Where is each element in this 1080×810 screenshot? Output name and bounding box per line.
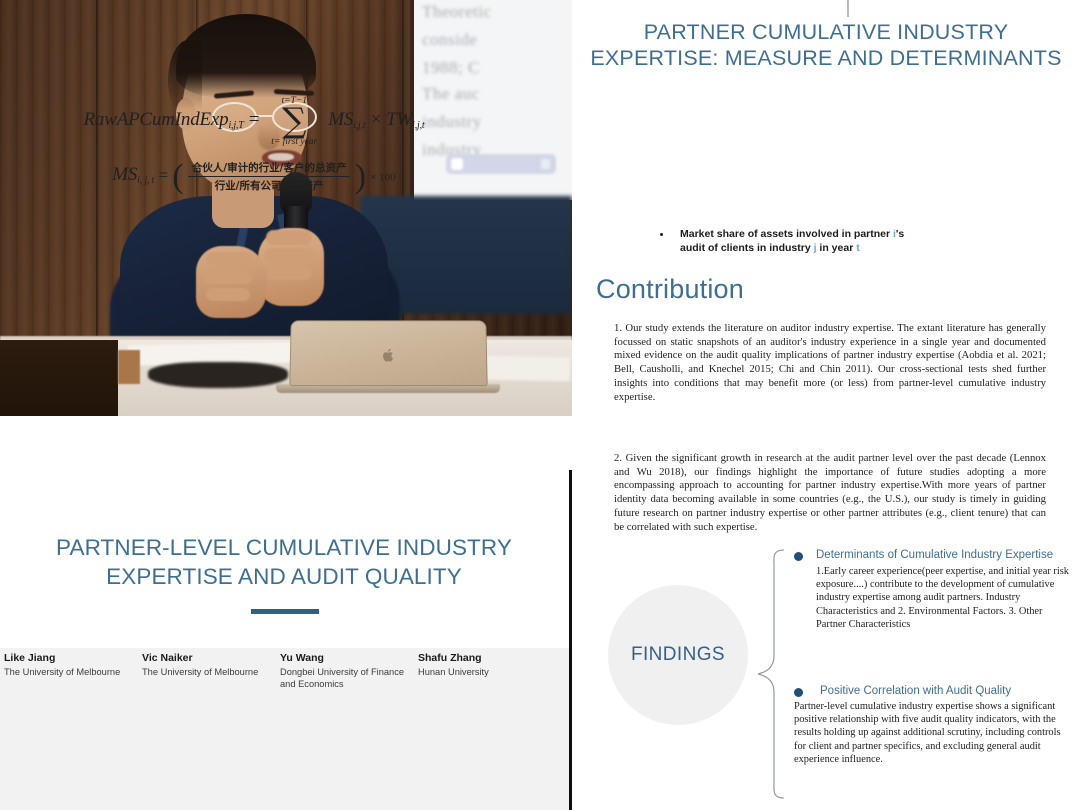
table-wood-panel: [0, 340, 118, 416]
paren-close: ): [355, 162, 366, 192]
title-underline-rule: [251, 609, 319, 614]
formula-market-share: MSi, j, t = ( 合伙人/审计的行业/客户的总资产 行业/所有公司的总…: [0, 160, 508, 193]
sum-lower-limit: t= first year: [271, 137, 317, 147]
paren-open: (: [172, 162, 183, 192]
presenter-hand-right: [258, 228, 324, 306]
curly-brace-icon: [754, 548, 790, 800]
bullet-circle-icon: [794, 552, 803, 561]
formula2-lhs: MSi, j, t: [112, 164, 154, 185]
findings-item-heading: Positive Correlation with Audit Quality: [820, 684, 1070, 698]
slide-measure-title: PARTNER CUMULATIVE INDUSTRY EXPERTISE: M…: [590, 19, 1062, 71]
slide-title-page: PARTNER-LEVEL CUMULATIVE INDUSTRY EXPERT…: [0, 416, 569, 810]
slide-top-tick: [847, 0, 849, 17]
slide-findings: FINDINGS Determinants of Cumulative Indu…: [572, 540, 1080, 810]
dark-object-on-table: [148, 362, 288, 388]
contribution-paragraph-2: 2. Given the significant growth in resea…: [614, 452, 1046, 534]
formula-term-ms: MSi,j,t: [328, 109, 365, 130]
fraction-denominator: 行业/所有公司的总资产: [188, 177, 351, 193]
findings-item-heading: Determinants of Cumulative Industry Expe…: [816, 548, 1070, 562]
findings-label: FINDINGS: [631, 644, 725, 666]
fraction-numerator: 合伙人/审计的行业/客户的总资产: [188, 160, 351, 177]
measure-bullet-text: Market share of assets involved in partn…: [680, 228, 910, 255]
summation-operator: t=T−1 ∑ t= first year: [271, 96, 317, 147]
bullet-circle-icon: [794, 688, 803, 697]
paper-title: PARTNER-LEVEL CUMULATIVE INDUSTRY EXPERT…: [8, 533, 560, 591]
projection-text-block-1: Theoreticconside1988; C: [422, 0, 572, 82]
bullet-dot-icon: [660, 233, 663, 236]
formula2-multiplier: × 100: [370, 171, 395, 183]
findings-item-body: 1.Early career experience(peer expertise…: [816, 565, 1070, 631]
contribution-heading: Contribution: [596, 274, 744, 305]
presenter-hand-left: [196, 246, 266, 318]
formula-times: ×: [370, 109, 383, 130]
macbook-laptop: [289, 320, 487, 386]
author-entry: Like Jiang The University of Melbourne: [4, 652, 142, 690]
findings-circle: FINDINGS: [608, 585, 748, 725]
presentation-composite: Theoreticconside1988; C The aucindustryi…: [0, 0, 1080, 810]
author-affiliation: Hunan University: [418, 666, 546, 678]
measure-bullet-note: Market share of assets involved in partn…: [660, 228, 910, 255]
author-entry: Vic Naiker The University of Melbourne: [142, 652, 280, 690]
market-share-fraction: 合伙人/审计的行业/客户的总资产 行业/所有公司的总资产: [188, 160, 351, 193]
formula-raw-apcumindexp: RawAPCumIndExpi,j,T = t=T−1 ∑ t= first y…: [0, 96, 508, 147]
presenter-video-panel[interactable]: Theoreticconside1988; C The aucindustryi…: [0, 0, 572, 416]
author-name: Yu Wang: [280, 652, 408, 665]
findings-item-body: Partner-level cumulative industry expert…: [794, 700, 1070, 766]
panel-divider-top: [569, 416, 572, 470]
findings-item: Determinants of Cumulative Industry Expe…: [794, 548, 1070, 631]
formula2-equals: =: [158, 165, 168, 184]
contribution-paragraph-1: 1. Our study extends the literature on a…: [614, 322, 1046, 404]
author-entry: Yu Wang Dongbei University of Finance an…: [280, 652, 418, 690]
author-name: Vic Naiker: [142, 652, 270, 665]
author-list: Like Jiang The University of Melbourne V…: [0, 652, 569, 690]
findings-item: Positive Correlation with Audit Quality …: [794, 684, 1070, 766]
author-entry: Shafu Zhang Hunan University: [418, 652, 556, 690]
apple-logo-icon: [382, 348, 395, 363]
author-affiliation: The University of Melbourne: [4, 666, 132, 678]
sigma-icon: ∑: [282, 101, 306, 141]
wooden-block: [118, 350, 140, 384]
formula-equals: =: [248, 109, 261, 130]
formula-term-tw: TWi,j,t: [386, 109, 424, 130]
formula-lhs: RawAPCumIndExpi,j,T: [84, 109, 244, 130]
author-name: Shafu Zhang: [418, 652, 546, 665]
author-affiliation: The University of Melbourne: [142, 666, 270, 678]
author-affiliation: Dongbei University of Finance and Econom…: [280, 666, 408, 690]
author-name: Like Jiang: [4, 652, 132, 665]
